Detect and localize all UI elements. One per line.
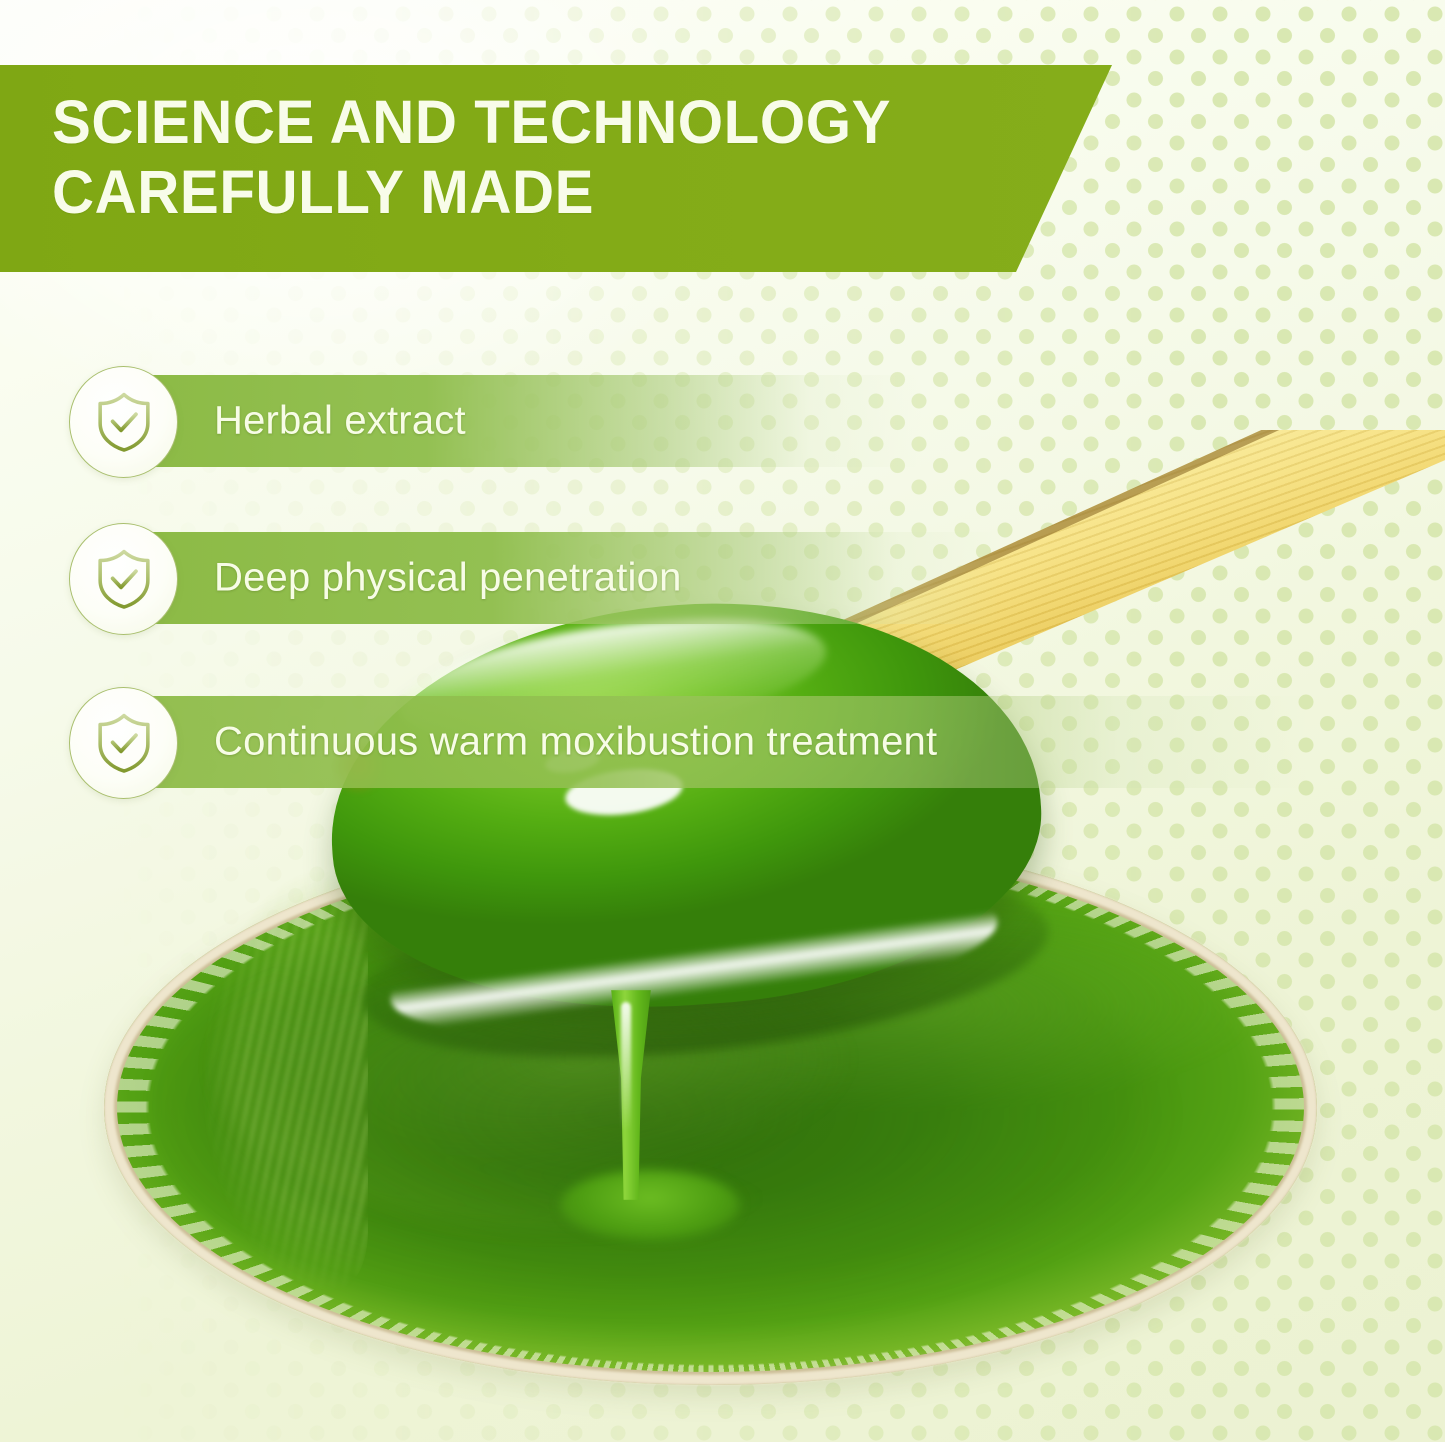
feature-bar-1: Herbal extract [122,375,922,467]
paste-drip-highlight [621,1002,631,1132]
promo-banner-image: SCIENCE AND TECHNOLOGY CAREFULLY MADE He… [0,0,1445,1442]
feature-badge-1 [69,366,178,478]
feature-badge-3 [69,687,178,799]
feature-label-1: Herbal extract [214,399,466,444]
paste-drip-pool [560,1170,740,1240]
feature-badge-2 [69,523,178,635]
feature-label-3: Continuous warm moxibustion treatment [214,720,937,765]
shield-check-icon [94,548,154,610]
shield-check-icon [94,391,154,453]
page-title: SCIENCE AND TECHNOLOGY CAREFULLY MADE [52,88,1017,227]
feature-bar-3: Continuous warm moxibustion treatment [122,696,1307,788]
feature-bar-2: Deep physical penetration [122,532,1002,624]
shield-check-icon [94,712,154,774]
feature-label-2: Deep physical penetration [214,556,682,601]
